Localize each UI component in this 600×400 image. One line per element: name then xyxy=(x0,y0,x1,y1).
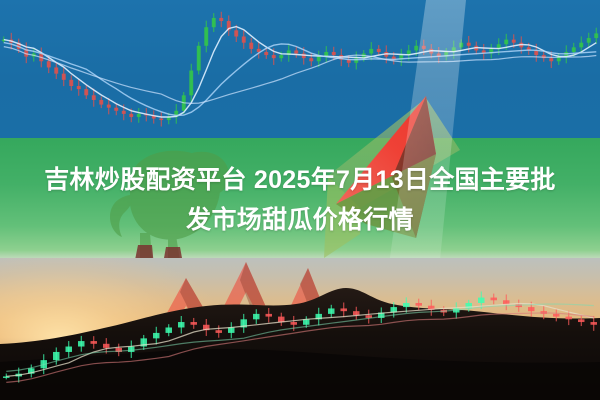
headline-line-1: 吉林炒股配资平台 2025年7月13日全国主要批 xyxy=(16,160,584,200)
headline: 吉林炒股配资平台 2025年7月13日全国主要批 发市场甜瓜价格行情 xyxy=(0,160,600,240)
candlestick-chart-night xyxy=(0,280,600,400)
promo-banner: 吉林炒股配资平台 2025年7月13日全国主要批 发市场甜瓜价格行情 xyxy=(0,0,600,400)
headline-line-2: 发市场甜瓜价格行情 xyxy=(16,200,584,240)
